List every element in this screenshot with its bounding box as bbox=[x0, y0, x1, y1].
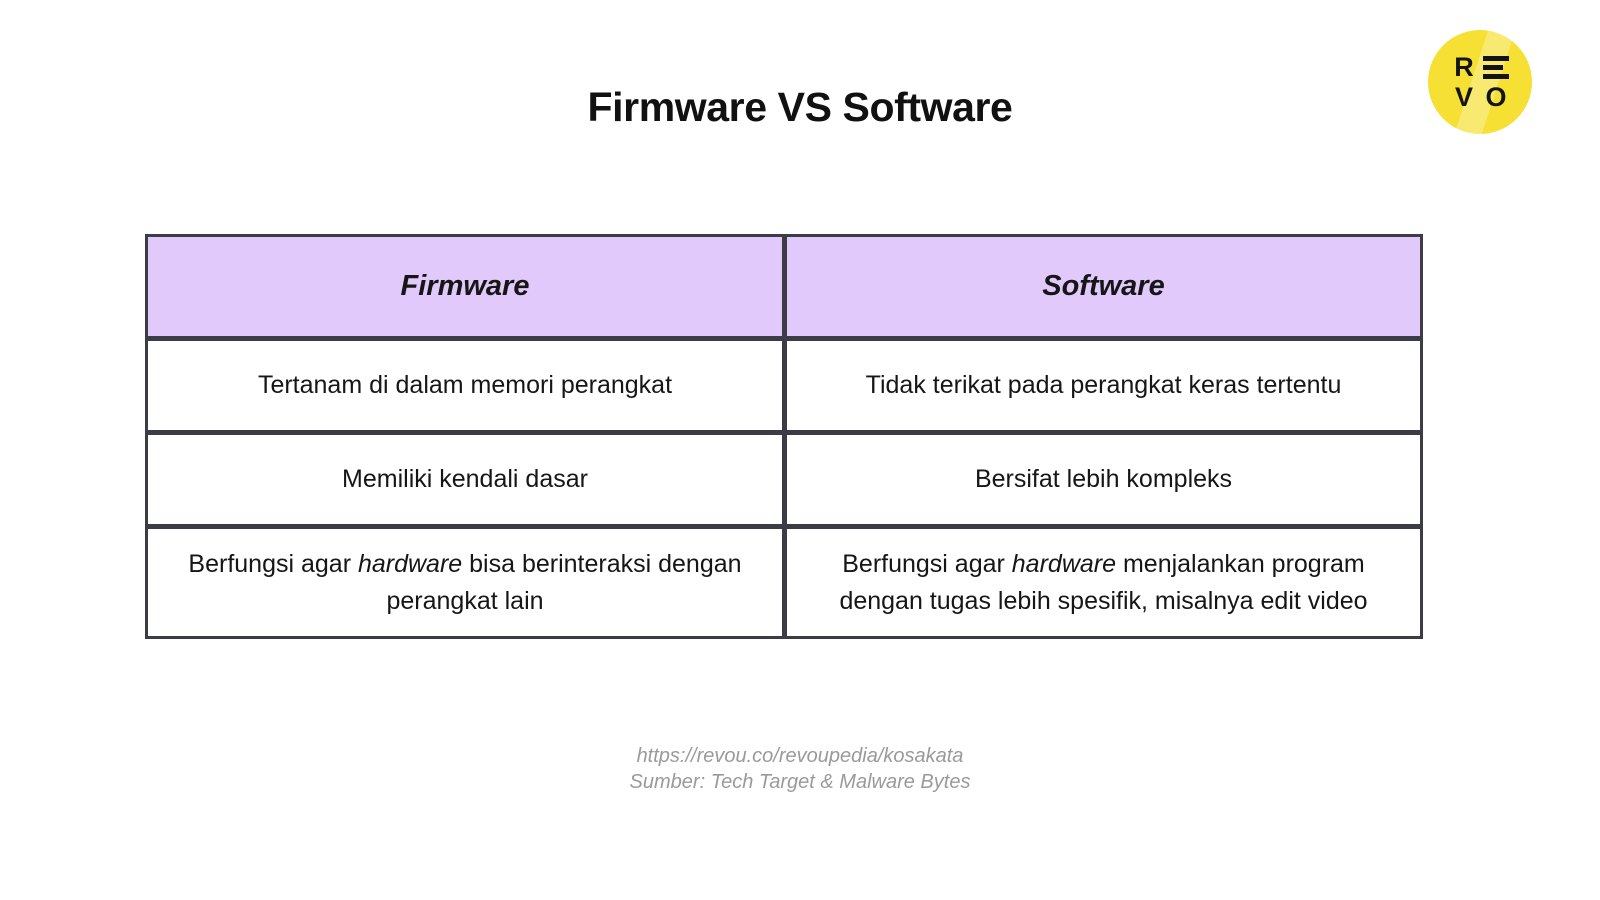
footer-attribution: https://revou.co/revoupedia/kosakata Sum… bbox=[0, 744, 1600, 795]
cell-firmware-3: Berfungsi agar hardware bisa berinteraks… bbox=[145, 526, 785, 639]
footer-url: https://revou.co/revoupedia/kosakata bbox=[0, 744, 1600, 770]
page-title: Firmware VS Software bbox=[0, 84, 1600, 131]
logo-letter-r: R bbox=[1454, 54, 1474, 81]
cell-software-1: Tidak terikat pada perangkat keras terte… bbox=[784, 338, 1423, 433]
logo-letter-e-icon bbox=[1483, 56, 1509, 79]
cell-software-2: Bersifat lebih kompleks bbox=[784, 432, 1423, 527]
table-row: Memiliki kendali dasar Bersifat lebih ko… bbox=[145, 433, 1424, 527]
table-row: Berfungsi agar hardware bisa berinteraks… bbox=[145, 527, 1424, 639]
footer-source: Sumber: Tech Target & Malware Bytes bbox=[0, 770, 1600, 796]
column-header-firmware: Firmware bbox=[145, 234, 785, 339]
cell-firmware-3-before: Berfungsi agar bbox=[188, 550, 358, 578]
cell-firmware-3-italic: hardware bbox=[358, 550, 462, 578]
cell-firmware-2: Memiliki kendali dasar bbox=[145, 432, 785, 527]
table-header-row: Firmware Software bbox=[145, 234, 1424, 339]
cell-software-3-before: Berfungsi agar bbox=[842, 550, 1012, 578]
cell-firmware-1: Tertanam di dalam memori perangkat bbox=[145, 338, 785, 433]
table-row: Tertanam di dalam memori perangkat Tidak… bbox=[145, 339, 1424, 433]
cell-software-3-italic: hardware bbox=[1012, 550, 1116, 578]
column-header-software: Software bbox=[784, 234, 1423, 339]
comparison-table: Firmware Software Tertanam di dalam memo… bbox=[145, 234, 1424, 639]
cell-software-3: Berfungsi agar hardware menjalankan prog… bbox=[784, 526, 1423, 639]
